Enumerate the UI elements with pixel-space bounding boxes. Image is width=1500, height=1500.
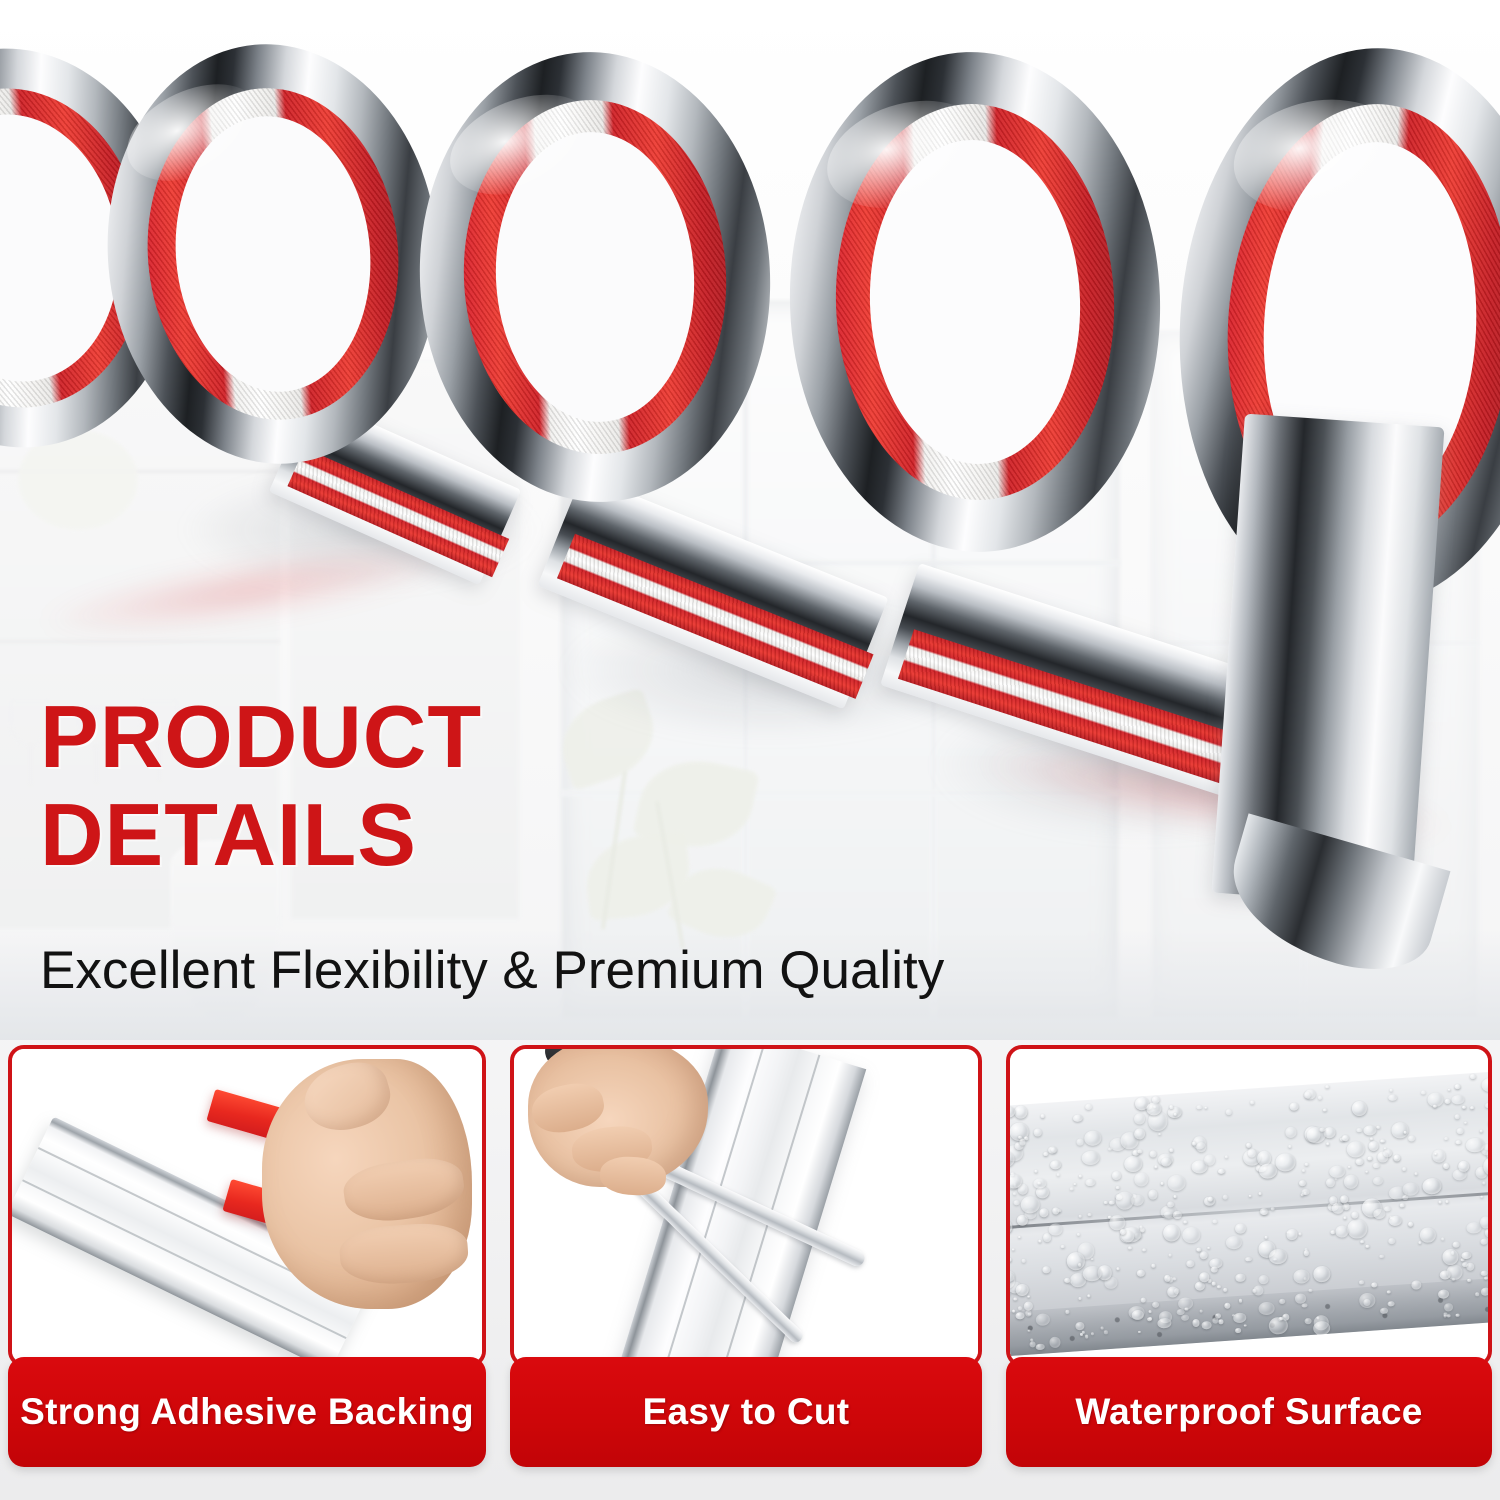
water-droplet — [1443, 1163, 1450, 1170]
water-droplet — [1186, 1259, 1195, 1267]
water-droplet — [1048, 1223, 1063, 1236]
water-droplet — [1466, 1221, 1482, 1234]
water-droplet — [1078, 1215, 1082, 1218]
water-droplet — [1212, 1317, 1219, 1324]
water-droplet — [1467, 1279, 1470, 1282]
water-droplet — [1074, 1183, 1077, 1186]
water-droplet — [1320, 1127, 1326, 1132]
water-droplet — [1140, 1298, 1145, 1303]
feature-panel-frame — [510, 1045, 982, 1367]
water-droplet — [1481, 1196, 1484, 1198]
water-droplet — [1235, 1328, 1241, 1333]
water-droplet — [1480, 1288, 1488, 1296]
water-droplet — [1205, 1106, 1208, 1109]
water-droplet — [1303, 1250, 1309, 1256]
water-droplet — [1365, 1244, 1369, 1247]
water-droplet — [1441, 1237, 1444, 1240]
headline-line-1: PRODUCT — [40, 688, 482, 786]
water-droplet — [1173, 1195, 1177, 1198]
feature-panel-frame — [8, 1045, 486, 1367]
water-droplet — [1014, 1200, 1020, 1205]
water-droplet — [1018, 1236, 1021, 1239]
water-droplet — [1289, 1102, 1299, 1111]
water-droplet — [1470, 1106, 1474, 1109]
water-droplet — [1052, 1207, 1059, 1214]
water-droplet — [1332, 1203, 1344, 1214]
water-droplet — [1168, 1253, 1171, 1257]
water-droplet — [1279, 1299, 1285, 1304]
water-droplet — [1085, 1179, 1095, 1187]
water-droplet — [1258, 1274, 1269, 1284]
water-droplet — [1442, 1249, 1459, 1266]
subheadline: Excellent Flexibility & Premium Quality — [40, 940, 944, 1002]
water-droplet — [1305, 1162, 1309, 1165]
water-droplet — [1083, 1265, 1103, 1282]
feature-caption-text: Easy to Cut — [643, 1391, 850, 1433]
water-droplet — [1073, 1115, 1083, 1123]
water-droplet — [1066, 1252, 1085, 1271]
water-droplet — [1104, 1331, 1109, 1335]
water-droplet — [1143, 1248, 1147, 1251]
water-droplet — [1038, 1240, 1041, 1243]
water-droplet — [1391, 1122, 1409, 1139]
water-droplet — [1470, 1074, 1476, 1080]
water-droplet — [1016, 1214, 1028, 1226]
water-droplet — [1183, 1221, 1187, 1224]
water-droplet — [1065, 1310, 1069, 1314]
water-droplet — [1012, 1248, 1015, 1251]
water-droplet — [1329, 1165, 1346, 1178]
water-droplet — [1174, 1113, 1177, 1116]
water-droplet — [1087, 1294, 1091, 1297]
water-droplet — [1384, 1206, 1391, 1212]
water-droplet — [1390, 1089, 1393, 1092]
water-droplet — [1039, 1208, 1049, 1218]
water-droplet — [1367, 1156, 1372, 1161]
water-droplet — [1452, 1242, 1459, 1248]
water-droplet — [1085, 1335, 1089, 1338]
water-droplet — [1415, 1172, 1418, 1175]
water-droplet — [1271, 1207, 1275, 1210]
water-droplet — [1077, 1233, 1080, 1236]
water-droplet — [1418, 1241, 1422, 1245]
water-droplet — [1170, 1148, 1174, 1152]
water-droplet — [1452, 1169, 1467, 1181]
water-droplet — [1448, 1089, 1452, 1092]
water-droplet — [1211, 1266, 1218, 1273]
water-droplet — [1465, 1121, 1468, 1124]
water-droplet — [1120, 1229, 1127, 1235]
water-droplet — [1357, 1127, 1363, 1132]
water-droplet — [1373, 1209, 1386, 1219]
water-droplet — [1084, 1130, 1102, 1146]
water-droplet — [1313, 1266, 1331, 1283]
water-droplet — [1019, 1139, 1025, 1145]
coil-loop-3 — [408, 43, 781, 511]
water-droplet — [1484, 1276, 1488, 1279]
water-droplet — [1117, 1268, 1120, 1271]
water-droplet — [1432, 1149, 1446, 1162]
water-droplet — [1269, 1249, 1288, 1265]
water-droplet — [1124, 1156, 1143, 1173]
water-droplet — [1402, 1183, 1419, 1197]
water-droplet — [1348, 1165, 1351, 1168]
water-droplet — [1225, 1109, 1232, 1115]
water-droplet — [1034, 1129, 1043, 1137]
water-droplet — [1161, 1157, 1172, 1167]
water-droplet — [1151, 1264, 1155, 1268]
water-droplet — [1136, 1269, 1145, 1277]
water-droplet — [1419, 1227, 1436, 1243]
water-droplet — [1173, 1210, 1182, 1219]
water-droplet — [1299, 1180, 1306, 1186]
water-droplet — [1422, 1177, 1442, 1195]
water-droplet — [1481, 1238, 1488, 1245]
water-droplet — [1101, 1327, 1104, 1330]
water-droplet — [1402, 1167, 1406, 1171]
feature-panel-cut[interactable]: Easy to Cut — [510, 1038, 982, 1500]
water-droplet — [1408, 1135, 1416, 1142]
water-droplet — [1050, 1160, 1062, 1170]
water-droplet — [1134, 1128, 1146, 1140]
water-droplet — [1021, 1259, 1025, 1263]
water-droplet — [1037, 1181, 1041, 1185]
water-droplet — [1305, 1318, 1312, 1324]
water-droplet — [1167, 1174, 1186, 1191]
water-droplet — [1199, 1251, 1208, 1259]
water-droplet — [1040, 1114, 1044, 1118]
water-droplet — [1013, 1297, 1018, 1301]
water-droplet — [1444, 1137, 1448, 1140]
water-droplet — [1070, 1187, 1073, 1190]
water-droplet — [1077, 1139, 1084, 1146]
headline-line-2: DETAILS — [40, 786, 482, 884]
water-droplet — [1218, 1168, 1226, 1174]
water-droplet — [1340, 1195, 1348, 1203]
feature-panel-adhesive[interactable]: Strong Adhesive Backing — [8, 1038, 486, 1500]
water-droplet — [1249, 1194, 1252, 1197]
water-droplet — [1400, 1204, 1404, 1208]
water-droplet — [1146, 1102, 1162, 1116]
water-droplet — [1365, 1170, 1368, 1173]
water-droplet — [1444, 1098, 1451, 1104]
water-droplet — [1445, 1200, 1449, 1203]
water-droplet — [1218, 1320, 1223, 1325]
water-droplet — [1181, 1227, 1200, 1244]
water-droplet — [1342, 1134, 1349, 1141]
feature-caption-text: Strong Adhesive Backing — [20, 1391, 474, 1433]
water-droplet — [1028, 1312, 1032, 1315]
product-detail-image: PRODUCT DETAILS Excellent Flexibility & … — [0, 0, 1500, 1500]
water-droplet — [1302, 1188, 1310, 1195]
water-droplet — [1377, 1126, 1380, 1129]
water-droplet — [1456, 1314, 1460, 1317]
coil-loop-4 — [781, 46, 1168, 559]
water-droplet — [1421, 1090, 1426, 1094]
water-droplet — [1091, 1332, 1095, 1336]
water-droplet — [1346, 1141, 1365, 1159]
water-droplet — [1082, 1150, 1101, 1166]
feature-panel-photo-cut — [514, 1049, 978, 1363]
water-droplet — [1325, 1178, 1335, 1188]
water-droplet — [1084, 1103, 1092, 1110]
water-droplet — [1079, 1175, 1082, 1178]
water-droplet — [1151, 1301, 1158, 1308]
water-droplet — [1010, 1257, 1012, 1261]
coil-loop-2 — [90, 30, 455, 477]
water-droplet — [1246, 1143, 1251, 1148]
water-droplet — [1287, 1229, 1298, 1240]
water-droplet — [1456, 1127, 1463, 1134]
waterproof-chrome-surface — [1010, 1071, 1488, 1356]
water-droplet — [1383, 1147, 1386, 1150]
water-droplet — [1393, 1155, 1401, 1163]
water-droplet — [1480, 1270, 1487, 1276]
water-droplets — [1010, 1071, 1488, 1107]
water-droplet — [1111, 1171, 1121, 1180]
water-droplet — [1433, 1104, 1437, 1108]
water-droplet — [1335, 1225, 1350, 1238]
water-droplet — [1036, 1343, 1045, 1350]
water-droplet — [1167, 1286, 1179, 1297]
feature-panel-photo-waterproof — [1010, 1049, 1488, 1363]
water-droplet — [1015, 1283, 1029, 1296]
water-droplet — [1079, 1297, 1082, 1300]
water-droplet — [1134, 1172, 1149, 1187]
feature-panel-photo-adhesive — [12, 1049, 482, 1363]
water-droplet — [1462, 1105, 1466, 1109]
water-droplet — [1042, 1266, 1050, 1274]
water-droplet — [1224, 1302, 1230, 1308]
water-droplet — [1108, 1200, 1114, 1205]
water-droplet — [1363, 1124, 1377, 1135]
water-droplet — [1250, 1101, 1254, 1104]
water-droplet — [1318, 1096, 1323, 1100]
water-droplet — [1056, 1173, 1059, 1176]
water-droplet — [1370, 1138, 1373, 1141]
water-droplet — [1235, 1274, 1245, 1282]
water-droplet — [1239, 1299, 1243, 1303]
water-droplet — [1128, 1246, 1132, 1249]
water-droplet — [1377, 1151, 1388, 1162]
water-droplet — [1388, 1237, 1396, 1244]
water-droplet — [1308, 1289, 1312, 1293]
water-droplet — [1302, 1169, 1305, 1172]
water-droplet — [1351, 1100, 1368, 1116]
water-droplet — [1148, 1310, 1152, 1313]
water-droplet — [1027, 1295, 1030, 1298]
water-droplet — [1481, 1077, 1488, 1093]
water-droplet — [1235, 1223, 1246, 1234]
feature-caption-waterproof: Waterproof Surface — [1006, 1357, 1492, 1467]
water-droplet — [1079, 1333, 1082, 1336]
water-droplet — [1078, 1263, 1081, 1266]
water-droplet — [1408, 1222, 1414, 1227]
water-droplet — [1064, 1278, 1070, 1283]
water-droplet — [1351, 1211, 1358, 1218]
water-droplet — [1293, 1269, 1311, 1284]
water-droplet — [1212, 1219, 1217, 1223]
water-droplet — [1484, 1228, 1488, 1237]
water-droplet — [1104, 1200, 1108, 1204]
water-droplet — [1252, 1289, 1257, 1293]
water-droplet — [1485, 1103, 1488, 1109]
water-droplet — [1061, 1245, 1065, 1249]
water-droplet — [1373, 1163, 1380, 1169]
water-droplet — [1115, 1191, 1134, 1210]
water-droplet — [1275, 1153, 1296, 1172]
water-droplet — [1285, 1127, 1297, 1139]
water-droplet — [1475, 1292, 1480, 1296]
water-droplet — [1013, 1192, 1016, 1195]
water-droplet — [1258, 1301, 1275, 1315]
feature-caption-cut: Easy to Cut — [510, 1357, 982, 1467]
water-droplet — [1191, 1160, 1208, 1174]
water-droplet — [1108, 1147, 1112, 1150]
water-droplet — [1295, 1294, 1306, 1304]
water-droplet — [1455, 1140, 1461, 1145]
water-droplet — [1388, 1094, 1397, 1101]
water-droplet — [1389, 1215, 1403, 1226]
water-droplet — [1361, 1240, 1365, 1243]
water-droplet — [1482, 1181, 1485, 1184]
water-droplet — [1225, 1236, 1242, 1250]
water-droplet — [1264, 1236, 1267, 1239]
water-droplet — [1258, 1163, 1277, 1179]
water-droplet — [1380, 1139, 1385, 1143]
feature-caption-adhesive: Strong Adhesive Backing — [8, 1357, 486, 1467]
feature-caption-text: Waterproof Surface — [1075, 1391, 1422, 1433]
water-droplet — [1245, 1256, 1252, 1261]
water-droplet — [1185, 1307, 1189, 1311]
water-droplet — [1288, 1145, 1292, 1148]
water-droplet — [1148, 1189, 1158, 1200]
water-droplet — [1150, 1150, 1157, 1157]
water-droplet — [1194, 1281, 1205, 1291]
water-droplet — [1014, 1105, 1029, 1120]
water-droplet — [1158, 1133, 1161, 1136]
water-droplet — [1035, 1169, 1038, 1172]
feature-panel-frame — [1006, 1045, 1492, 1367]
water-droplet — [1356, 1158, 1364, 1166]
water-droplet — [1323, 1108, 1327, 1111]
water-droplet — [1347, 1219, 1368, 1240]
water-droplet — [1018, 1306, 1022, 1310]
water-droplet — [1452, 1095, 1465, 1105]
water-droplet — [1379, 1254, 1384, 1258]
water-droplet — [1137, 1149, 1143, 1154]
water-droplet — [1343, 1216, 1346, 1219]
water-droplet — [1020, 1195, 1040, 1214]
water-droplet — [1161, 1181, 1164, 1184]
water-droplet — [1134, 1113, 1146, 1125]
water-droplet — [1212, 1282, 1216, 1286]
water-droplet — [1154, 1166, 1157, 1169]
water-droplet — [1368, 1140, 1379, 1151]
water-droplet — [1454, 1114, 1460, 1119]
water-droplet — [1116, 1186, 1120, 1189]
water-droplet — [1326, 1142, 1329, 1145]
water-droplet — [1344, 1175, 1359, 1189]
headline: PRODUCT DETAILS — [40, 688, 482, 884]
water-droplet — [1359, 1280, 1364, 1284]
water-droplet — [1087, 1213, 1091, 1216]
water-droplet — [1280, 1317, 1283, 1320]
water-droplet — [1325, 1085, 1329, 1089]
water-droplet — [1299, 1233, 1302, 1236]
water-droplet — [1196, 1105, 1202, 1110]
water-droplet — [1258, 1192, 1261, 1195]
water-droplet — [1217, 1285, 1221, 1288]
water-droplet — [1224, 1155, 1228, 1158]
water-droplet — [1480, 1129, 1483, 1132]
water-droplet — [1373, 1177, 1384, 1185]
water-droplet — [1162, 1224, 1181, 1243]
water-droplet — [1461, 1252, 1471, 1260]
water-droplet — [1223, 1194, 1229, 1200]
water-droplet — [1043, 1152, 1048, 1156]
water-droplet — [1223, 1288, 1228, 1292]
water-droplet — [1454, 1084, 1460, 1089]
water-droplet — [1438, 1201, 1441, 1204]
water-droplet — [1207, 1246, 1210, 1249]
feature-panels: Strong Adhesive Backing — [0, 1038, 1500, 1500]
feature-panel-waterproof[interactable]: Waterproof Surface — [1006, 1038, 1492, 1500]
water-droplet — [1048, 1146, 1057, 1154]
water-droplet — [1196, 1142, 1207, 1153]
